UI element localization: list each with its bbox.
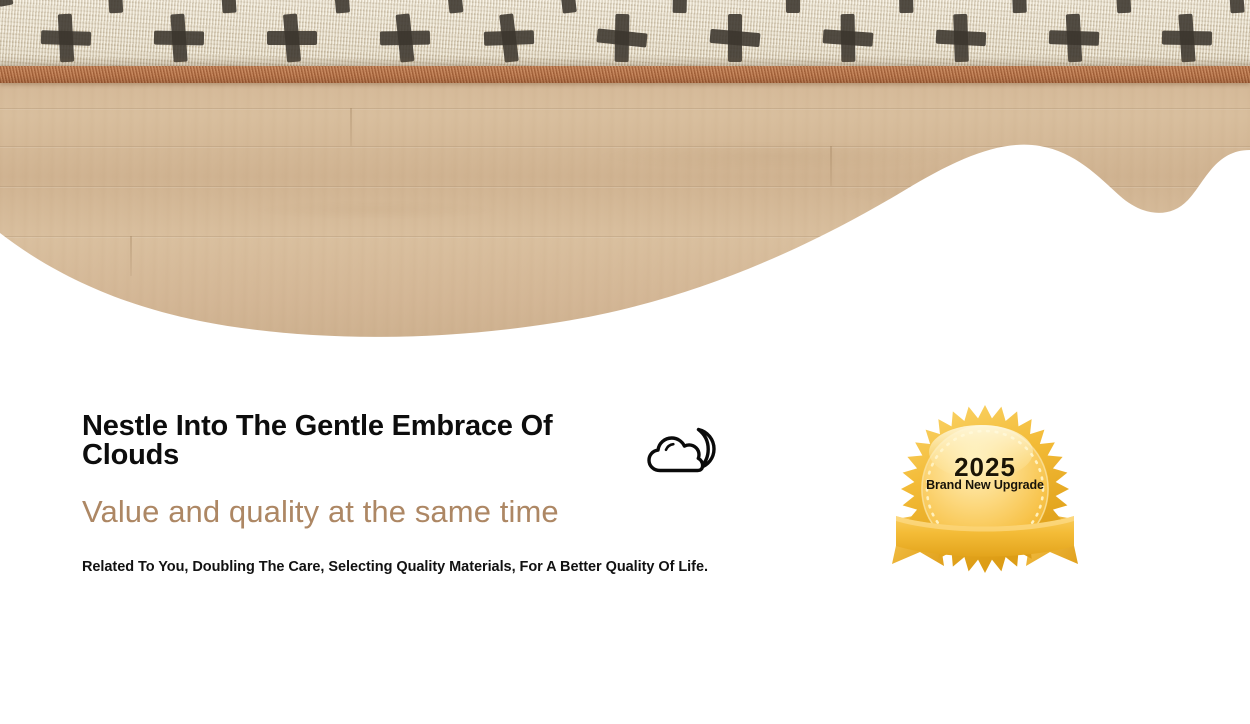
plank-joint (350, 108, 352, 146)
rug-cross-motif (538, 0, 596, 18)
rug-cross-motif (651, 0, 709, 18)
rug-binding-border (0, 66, 1250, 83)
plank-seam (0, 146, 1250, 148)
plank-seam (0, 108, 1250, 110)
rug-cross-motif (88, 0, 142, 16)
moon-cloud-icon (644, 425, 720, 477)
hero-photo (0, 0, 1250, 340)
rug-cross-motif (313, 0, 369, 17)
rug-shadow (0, 56, 1250, 66)
award-badge: 2025 Brand New Upgrade (884, 400, 1086, 588)
product-banner-page: Nestle Into The Gentle Embrace Of Clouds… (0, 0, 1250, 724)
description-text: Related To You, Doubling The Care, Selec… (82, 530, 782, 577)
badge-tagline: Brand New Upgrade (884, 478, 1086, 492)
rug-cross-motif (0, 0, 32, 12)
rug-cross-motif (992, 0, 1047, 16)
copy-block: Nestle Into The Gentle Embrace Of Clouds… (82, 412, 782, 576)
area-rug (0, 0, 1250, 66)
rug-cross-motif (1096, 0, 1150, 16)
rug-cross-motif (878, 0, 934, 17)
page-title: Nestle Into The Gentle Embrace Of Clouds (82, 412, 602, 470)
rug-cross-motif (1209, 0, 1250, 16)
plank-seam (0, 236, 1250, 238)
rug-cross-motif (426, 0, 483, 17)
plank-joint (830, 146, 832, 186)
subtitle: Value and quality at the same time (82, 470, 782, 530)
rug-cross-motif (201, 0, 256, 16)
plank-joint (130, 236, 132, 276)
plank-seam (0, 186, 1250, 188)
wood-grain-knots (0, 120, 1250, 240)
rug-cross-motif (765, 0, 822, 17)
